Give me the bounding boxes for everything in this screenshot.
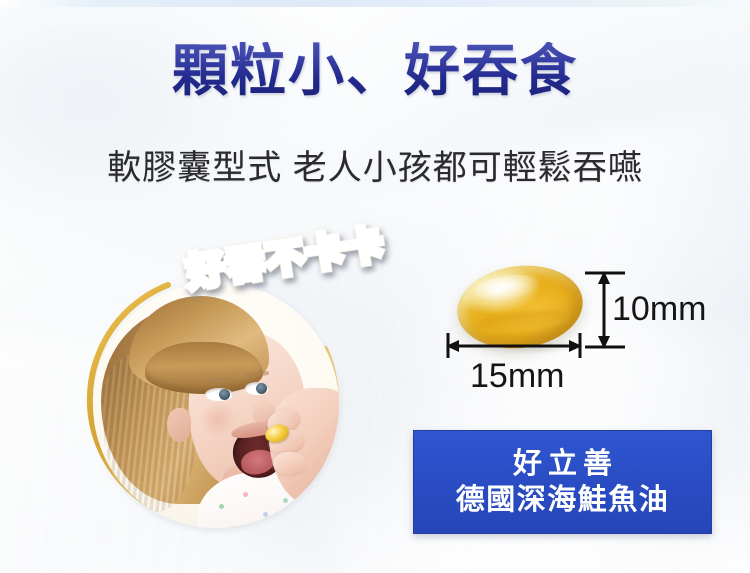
- arrow-up-icon: [598, 271, 610, 284]
- product-name-badge: 好立善 德國深海鮭魚油: [413, 430, 712, 534]
- subtitle: 軟膠囊型式 老人小孩都可輕鬆吞嚥: [0, 140, 750, 189]
- child-eye-right: [245, 382, 269, 395]
- shirt-dot: [263, 512, 268, 517]
- capsule-gloss-highlight: [473, 272, 541, 304]
- child-photo-circle: [93, 282, 339, 528]
- child-eye-left: [205, 388, 233, 401]
- iris: [219, 389, 230, 400]
- shirt-dot: [243, 492, 248, 497]
- capsule-band: [473, 306, 570, 337]
- shirt-dot: [301, 520, 306, 525]
- arrow-left-icon: [446, 340, 459, 352]
- shirt-dot: [219, 504, 224, 509]
- product-name: 德國深海鮭魚油: [456, 482, 670, 518]
- headline: 顆粒小、好吞食: [0, 42, 750, 101]
- capsule-height-label: 10mm: [612, 290, 706, 329]
- top-accent-band: [0, 0, 750, 7]
- iris: [256, 383, 267, 394]
- shirt-dot: [283, 498, 288, 503]
- child-ear: [167, 408, 191, 442]
- product-poster: 顆粒小、好吞食 軟膠囊型式 老人小孩都可輕鬆吞嚥 好吞不卡卡 好吞不卡卡: [0, 0, 750, 573]
- brand-name: 好立善: [507, 446, 618, 482]
- shirt-dot: [231, 526, 236, 528]
- child-photo-artwork: [93, 282, 339, 528]
- arrow-down-icon: [598, 336, 610, 349]
- capsule-width-label: 15mm: [470, 357, 564, 396]
- child-photo: [93, 282, 339, 528]
